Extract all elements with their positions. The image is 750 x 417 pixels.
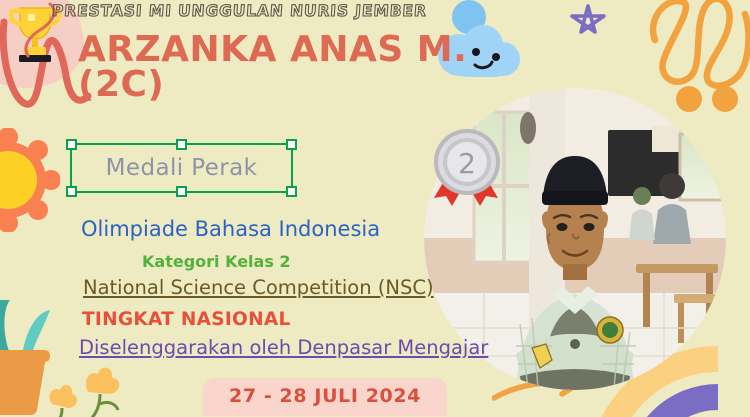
orange-dot-decoration — [712, 86, 738, 112]
page-title: PRESTASI MI UNGGULAN NURIS JEMBER — [51, 2, 427, 20]
star-icon — [563, 2, 613, 50]
competition-level: TINGKAT NASIONAL — [82, 309, 291, 330]
orange-dot-decoration — [676, 86, 702, 112]
scribble-doodle — [645, 0, 750, 96]
resize-handle-top-left[interactable] — [66, 139, 77, 150]
award-label: Medali Perak — [72, 145, 291, 191]
resize-handle-bottom-right[interactable] — [286, 186, 297, 197]
competition-category: Kategori Kelas 2 — [142, 252, 291, 271]
resize-handle-bottom-center[interactable] — [176, 186, 187, 197]
event-name: National Science Competition (NSC) — [83, 276, 434, 299]
resize-handle-top-right[interactable] — [286, 139, 297, 150]
sun-icon — [0, 128, 60, 232]
resize-handle-bottom-left[interactable] — [66, 186, 77, 197]
event-date-badge: 27 - 28 JULI 2024 — [203, 378, 447, 416]
award-text-selection-box[interactable]: Medali Perak — [70, 143, 293, 193]
resize-handle-top-center[interactable] — [176, 139, 187, 150]
achievement-poster: 2 PRESTASI MI UNGGULAN NURIS JEMBER ARZA… — [0, 0, 750, 417]
silver-medal-badge: 2 — [424, 122, 510, 214]
organizer-name: Diselenggarakan oleh Denpasar Mengajar — [79, 336, 488, 359]
student-name: ARZANKA ANAS M. (2C) — [78, 33, 498, 102]
competition-name: Olimpiade Bahasa Indonesia — [81, 217, 380, 241]
medal-rank-number: 2 — [458, 147, 476, 180]
